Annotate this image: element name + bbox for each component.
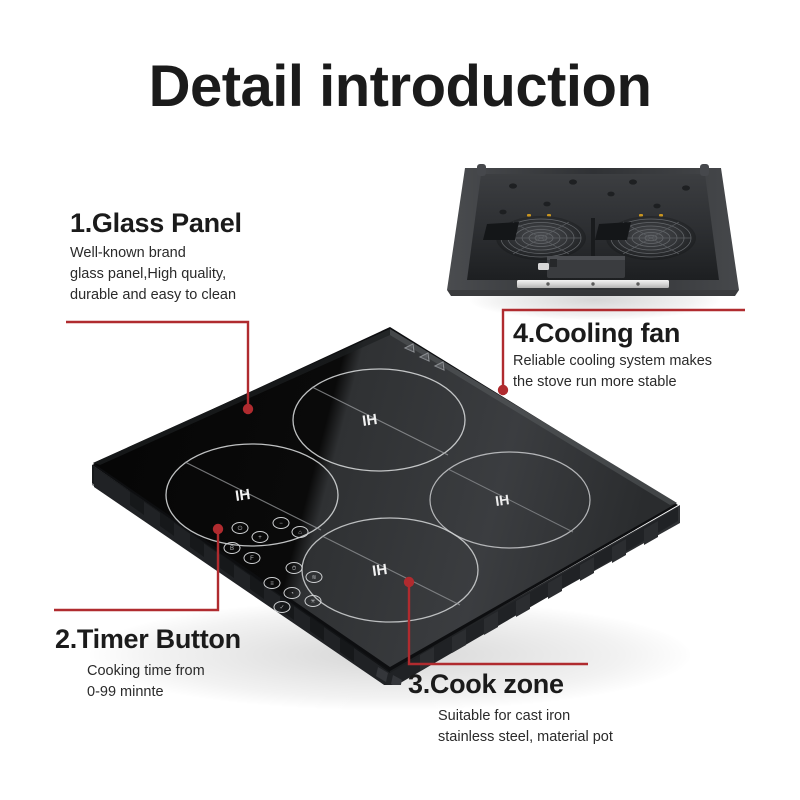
callout-2-body: Cooking time from 0-99 minnte bbox=[87, 661, 241, 703]
callout-1-line-2: glass panel,High quality, bbox=[70, 264, 242, 285]
callout-3-line-2: stainless steel, material pot bbox=[438, 727, 613, 748]
callout-3-body: Suitable for cast iron stainless steel, … bbox=[438, 706, 613, 748]
callout-1-body: Well-known brand glass panel,High qualit… bbox=[70, 243, 242, 306]
settings-icon: ✳ bbox=[310, 598, 315, 605]
cook-zone-label-right: IH bbox=[494, 491, 510, 509]
callout-2-heading: 2.Timer Button bbox=[55, 623, 241, 655]
page-title: Detail introduction bbox=[0, 56, 800, 118]
callout-4-line-2: the stove run more stable bbox=[513, 372, 712, 393]
cook-zone-label-rear: IH bbox=[361, 411, 378, 430]
heat-icon: ≋ bbox=[311, 575, 316, 581]
mount-post-right bbox=[700, 164, 709, 176]
air-duct-right bbox=[595, 222, 631, 240]
callout-cooling-fan: 4.Cooling fan Reliable cooling system ma… bbox=[513, 317, 712, 393]
callout-4-body: Reliable cooling system makes the stove … bbox=[513, 351, 712, 393]
product-image-underside bbox=[443, 160, 743, 310]
callout-timer-button: 2.Timer Button Cooking time from 0-99 mi… bbox=[55, 623, 241, 703]
callout-1-line-1: Well-known brand bbox=[70, 243, 242, 264]
callout-4-heading: 4.Cooling fan bbox=[513, 317, 712, 349]
callout-cook-zone: 3.Cook zone Suitable for cast iron stain… bbox=[408, 668, 613, 748]
callout-4-line-1: Reliable cooling system makes bbox=[513, 351, 712, 372]
plus-icon: + bbox=[258, 535, 262, 541]
power-icon: ⏻ bbox=[238, 525, 243, 532]
check-icon: ✓ bbox=[279, 605, 284, 611]
chassis-bottom-edge bbox=[447, 290, 739, 296]
timer-icon: ⏱ bbox=[292, 565, 297, 572]
infographic-canvas: Detail introduction bbox=[0, 0, 800, 800]
mount-post-left bbox=[477, 164, 486, 176]
callout-3-line-1: Suitable for cast iron bbox=[438, 706, 613, 727]
callout-1-heading: 1.Glass Panel bbox=[70, 207, 242, 239]
callout-glass-panel: 1.Glass Panel Well-known brand glass pan… bbox=[70, 207, 242, 306]
cook-zone-label-left: IH bbox=[234, 486, 251, 505]
minus-icon: − bbox=[279, 521, 283, 527]
cook-zone-label-front: IH bbox=[371, 561, 388, 580]
menu-icon: ≡ bbox=[270, 581, 274, 587]
callout-2-line-2: 0-99 minnte bbox=[87, 682, 241, 703]
lock-icon: ⌂ bbox=[298, 530, 302, 536]
fn-icon: F bbox=[250, 556, 254, 562]
air-duct-left bbox=[483, 222, 519, 240]
center-rib bbox=[591, 218, 595, 260]
control-module bbox=[538, 256, 625, 278]
clock-icon: ◔ bbox=[290, 591, 294, 597]
callout-3-heading: 3.Cook zone bbox=[408, 668, 613, 700]
mounting-bracket bbox=[517, 280, 669, 288]
boost-icon: B bbox=[230, 546, 234, 552]
callout-1-line-3: durable and easy to clean bbox=[70, 285, 242, 306]
callout-2-line-1: Cooking time from bbox=[87, 661, 241, 682]
